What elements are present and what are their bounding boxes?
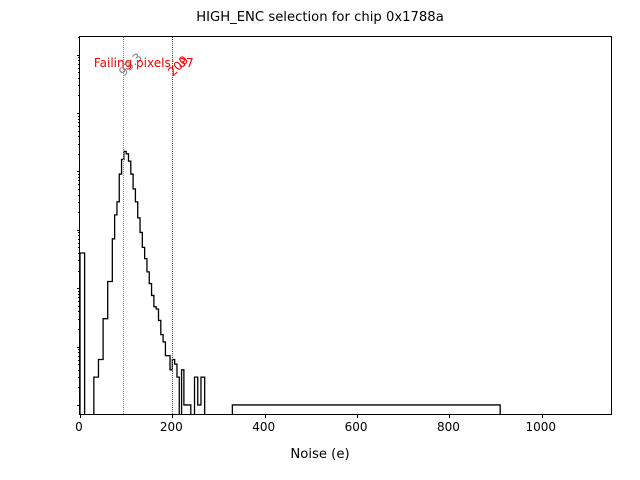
x-tick-label: 400 <box>234 420 294 434</box>
y-tick-minor <box>78 136 80 137</box>
y-tick-minor <box>78 370 80 371</box>
y-tick-minor <box>78 239 80 240</box>
mean-vline <box>123 37 124 414</box>
y-tick-minor <box>78 189 80 190</box>
y-tick-minor <box>78 311 80 312</box>
y-tick-major <box>77 113 81 114</box>
histogram-outline <box>80 151 500 414</box>
y-tick-minor <box>78 78 80 79</box>
x-tick-major <box>449 414 450 418</box>
y-tick-minor <box>78 122 80 123</box>
y-tick-minor <box>78 144 80 145</box>
y-tick-minor <box>78 72 80 73</box>
y-tick-minor <box>78 271 80 272</box>
y-tick-minor <box>78 319 80 320</box>
failing-pixels-annotation: Failing pixels: 37 <box>94 56 194 70</box>
figure-canvas: HIGH_ENC selection for chip 0x1788a 93.3… <box>0 0 640 480</box>
plot-inner <box>80 37 611 414</box>
y-tick-minor <box>78 202 80 203</box>
y-tick-minor <box>78 126 80 127</box>
y-tick-major <box>77 405 81 406</box>
y-tick-minor <box>78 291 80 292</box>
y-tick-major <box>77 55 81 56</box>
plot-area: 93.3200 Failing pixels: 37 <box>79 36 612 415</box>
x-tick-label: 1000 <box>511 420 571 434</box>
y-tick-minor <box>78 60 80 61</box>
y-tick-minor <box>78 85 80 86</box>
y-tick-minor <box>78 349 80 350</box>
x-tick-major <box>542 414 543 418</box>
x-tick-label: 800 <box>418 420 478 434</box>
y-tick-minor <box>78 294 80 295</box>
x-tick-label: 200 <box>141 420 201 434</box>
y-tick-minor <box>78 119 80 120</box>
y-tick-minor <box>78 360 80 361</box>
page-title: HIGH_ENC selection for chip 0x1788a <box>0 10 640 25</box>
y-tick-minor <box>78 306 80 307</box>
y-tick-minor <box>78 364 80 365</box>
y-tick-minor <box>78 253 80 254</box>
y-tick-minor <box>78 131 80 132</box>
y-tick-major <box>77 171 81 172</box>
y-tick-minor <box>78 235 80 236</box>
y-tick-major <box>77 230 81 231</box>
y-tick-major <box>77 288 81 289</box>
x-tick-label: 600 <box>326 420 386 434</box>
y-tick-minor <box>78 329 80 330</box>
y-tick-minor <box>78 64 80 65</box>
x-axis-label: Noise (e) <box>0 447 640 462</box>
y-tick-minor <box>78 184 80 185</box>
y-tick-major <box>77 347 81 348</box>
y-tick-minor <box>78 387 80 388</box>
y-tick-minor <box>78 301 80 302</box>
x-tick-major <box>172 414 173 418</box>
y-tick-minor <box>78 116 80 117</box>
y-tick-minor <box>78 232 80 233</box>
y-tick-minor <box>78 377 80 378</box>
y-tick-minor <box>78 37 80 38</box>
y-tick-minor <box>78 352 80 353</box>
y-tick-minor <box>78 154 80 155</box>
y-tick-minor <box>78 95 80 96</box>
y-tick-minor <box>78 57 80 58</box>
y-tick-minor <box>78 356 80 357</box>
y-tick-minor <box>78 297 80 298</box>
y-tick-minor <box>78 212 80 213</box>
y-tick-minor <box>78 247 80 248</box>
y-tick-minor <box>78 180 80 181</box>
y-tick-minor <box>78 174 80 175</box>
x-tick-label: 0 <box>49 420 109 434</box>
cut-vline <box>172 37 173 414</box>
y-tick-minor <box>78 243 80 244</box>
y-tick-minor <box>78 177 80 178</box>
x-tick-major <box>265 414 266 418</box>
x-tick-major <box>357 414 358 418</box>
y-tick-minor <box>78 195 80 196</box>
y-tick-minor <box>78 260 80 261</box>
histogram-trace <box>80 37 611 414</box>
x-tick-major <box>80 414 81 418</box>
y-tick-minor <box>78 68 80 69</box>
